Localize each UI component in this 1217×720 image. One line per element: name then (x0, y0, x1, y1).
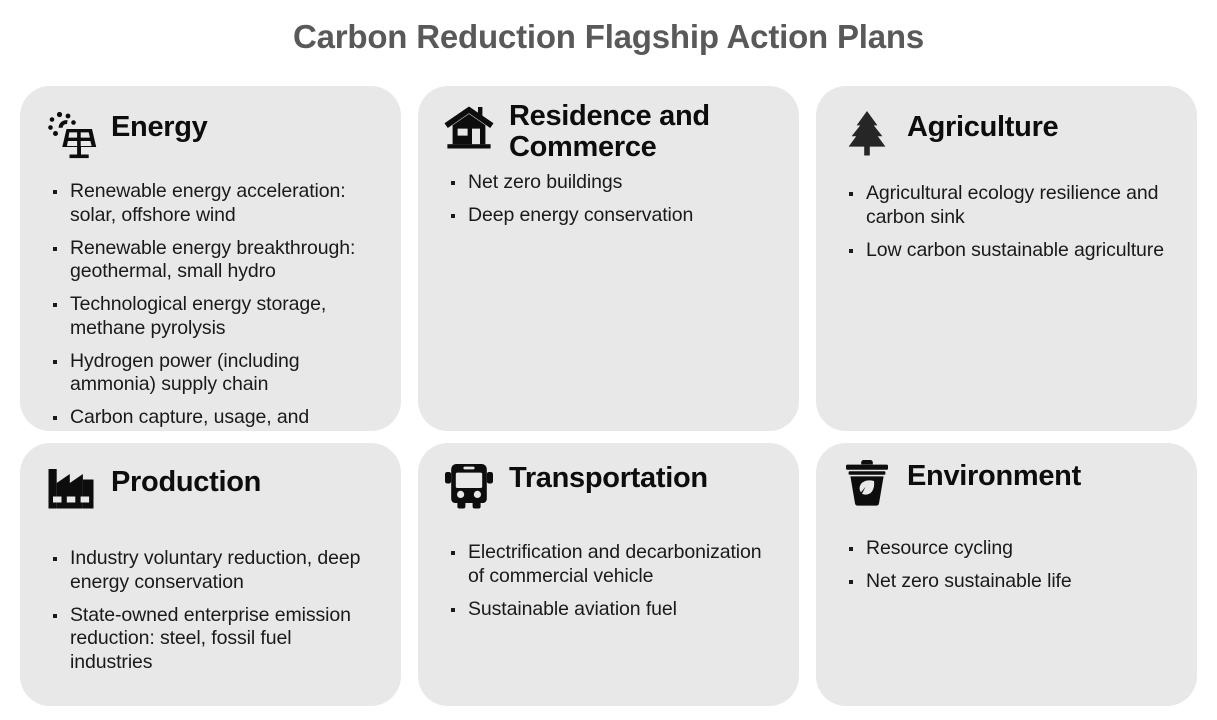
list-item: Sustainable aviation fuel (444, 598, 775, 622)
page-title: Carbon Reduction Flagship Action Plans (0, 18, 1217, 56)
card-residence-and-commerce: Residence and Commerce Net zero building… (418, 86, 799, 431)
list-item: Renewable energy acceleration: solar, of… (46, 180, 377, 228)
house-icon (443, 101, 495, 153)
card-energy: Energy Renewable energy acceleration: so… (20, 86, 401, 431)
list-item: Electrification and decarbonization of c… (444, 541, 775, 589)
card-production: Production Industry voluntary reduction,… (20, 443, 401, 706)
card-agriculture: Agriculture Agricultural ecology resilie… (816, 86, 1197, 431)
card-environment: Environment Resource cycling Net zero su… (816, 443, 1197, 706)
bullet-list: Net zero buildings Deep energy conservat… (418, 163, 799, 228)
card-title: Environment (907, 457, 1081, 492)
list-item: Net zero sustainable life (842, 570, 1173, 594)
bullet-list: Agricultural ecology resilience and carb… (816, 160, 1197, 262)
bus-icon (443, 459, 495, 511)
card-header: Environment (816, 443, 1197, 509)
list-item: Net zero buildings (444, 171, 775, 195)
bullet-list: Industry voluntary reduction, deep energ… (20, 515, 401, 675)
card-grid: Energy Renewable energy acceleration: so… (20, 86, 1197, 706)
card-title: Transportation (509, 459, 708, 494)
list-item: Agricultural ecology resilience and carb… (842, 182, 1173, 230)
list-item: Industry voluntary reduction, deep energ… (46, 547, 377, 595)
trash-leaf-icon (841, 457, 893, 509)
card-header: Production (20, 443, 401, 515)
card-title: Production (111, 463, 261, 498)
solar-panel-icon (45, 108, 97, 160)
tree-icon (841, 108, 893, 160)
card-header: Transportation (418, 443, 799, 511)
factory-icon (45, 463, 97, 515)
list-item: Technological energy storage, methane py… (46, 293, 377, 341)
list-item: Hydrogen power (including ammonia) suppl… (46, 350, 377, 398)
card-transportation: Transportation Electrification and decar… (418, 443, 799, 706)
card-header: Residence and Commerce (418, 86, 799, 163)
card-header: Energy (20, 86, 401, 160)
list-item: State-owned enterprise emission reductio… (46, 604, 377, 675)
list-item: Deep energy conservation (444, 204, 775, 228)
list-item: Low carbon sustainable agriculture (842, 239, 1173, 263)
card-title: Agriculture (907, 108, 1058, 143)
list-item: Carbon capture, usage, and storage (46, 406, 377, 431)
list-item: Renewable energy breakthrough: geotherma… (46, 237, 377, 285)
card-title: Energy (111, 108, 208, 143)
card-header: Agriculture (816, 86, 1197, 160)
infographic-page: Carbon Reduction Flagship Action Plans (0, 0, 1217, 720)
card-title: Residence and Commerce (509, 101, 779, 163)
bullet-list: Resource cycling Net zero sustainable li… (816, 509, 1197, 594)
bullet-list: Renewable energy acceleration: solar, of… (20, 160, 401, 431)
list-item: Resource cycling (842, 537, 1173, 561)
bullet-list: Electrification and decarbonization of c… (418, 511, 799, 621)
